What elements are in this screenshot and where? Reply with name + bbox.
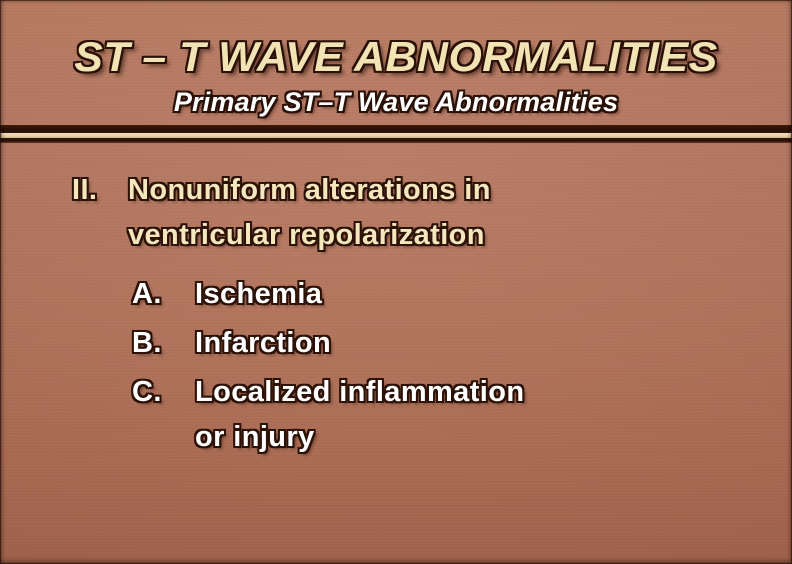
outline-subitem-b-marker: B. (132, 321, 195, 366)
outline-subitem-b-text: Infarction (195, 321, 331, 366)
outline-subitem-a-marker: A. (132, 272, 195, 317)
outline-subitem-b: B. Infarction (0, 321, 792, 366)
outline-list: II. Nonuniform alterations in ventricula… (0, 168, 792, 460)
slide-content: ST – T WAVE ABNORMALITIES Primary ST–T W… (0, 0, 792, 564)
slide-subtitle: Primary ST–T Wave Abnormalities (0, 86, 792, 119)
header-divider (0, 125, 792, 143)
outline-subitem-a-line: A. Ischemia (0, 272, 792, 317)
slide-title: ST – T WAVE ABNORMALITIES (0, 33, 792, 81)
outline-item-2-marker: II. (72, 168, 128, 213)
outline-item-2-second-line: ventricular repolarization (0, 213, 792, 258)
outline-subitem-c: C. Localized inflammation or injury (0, 370, 792, 460)
outline-subitem-c-marker: C. (132, 370, 195, 415)
list-spacer (0, 258, 792, 272)
outline-item-2: II. Nonuniform alterations in ventricula… (0, 168, 792, 258)
outline-subitem-c-second-line: or injury (0, 415, 792, 460)
outline-subitem-a-text: Ischemia (195, 272, 322, 317)
outline-subitem-c-text-line-1: Localized inflammation (195, 370, 524, 415)
outline-subitem-a: A. Ischemia (0, 272, 792, 317)
outline-item-2-first-line: II. Nonuniform alterations in (0, 168, 792, 213)
outline-subitem-c-first-line: C. Localized inflammation (0, 370, 792, 415)
slide-frame: ST – T WAVE ABNORMALITIES Primary ST–T W… (0, 0, 792, 564)
outline-subitem-c-text-line-2: or injury (195, 415, 315, 460)
outline-subitem-b-line: B. Infarction (0, 321, 792, 366)
outline-item-2-text-line-2: ventricular repolarization (128, 213, 485, 258)
outline-item-2-text-line-1: Nonuniform alterations in (128, 168, 491, 213)
divider-dark-bottom (0, 138, 792, 143)
divider-dark-top (0, 125, 792, 133)
